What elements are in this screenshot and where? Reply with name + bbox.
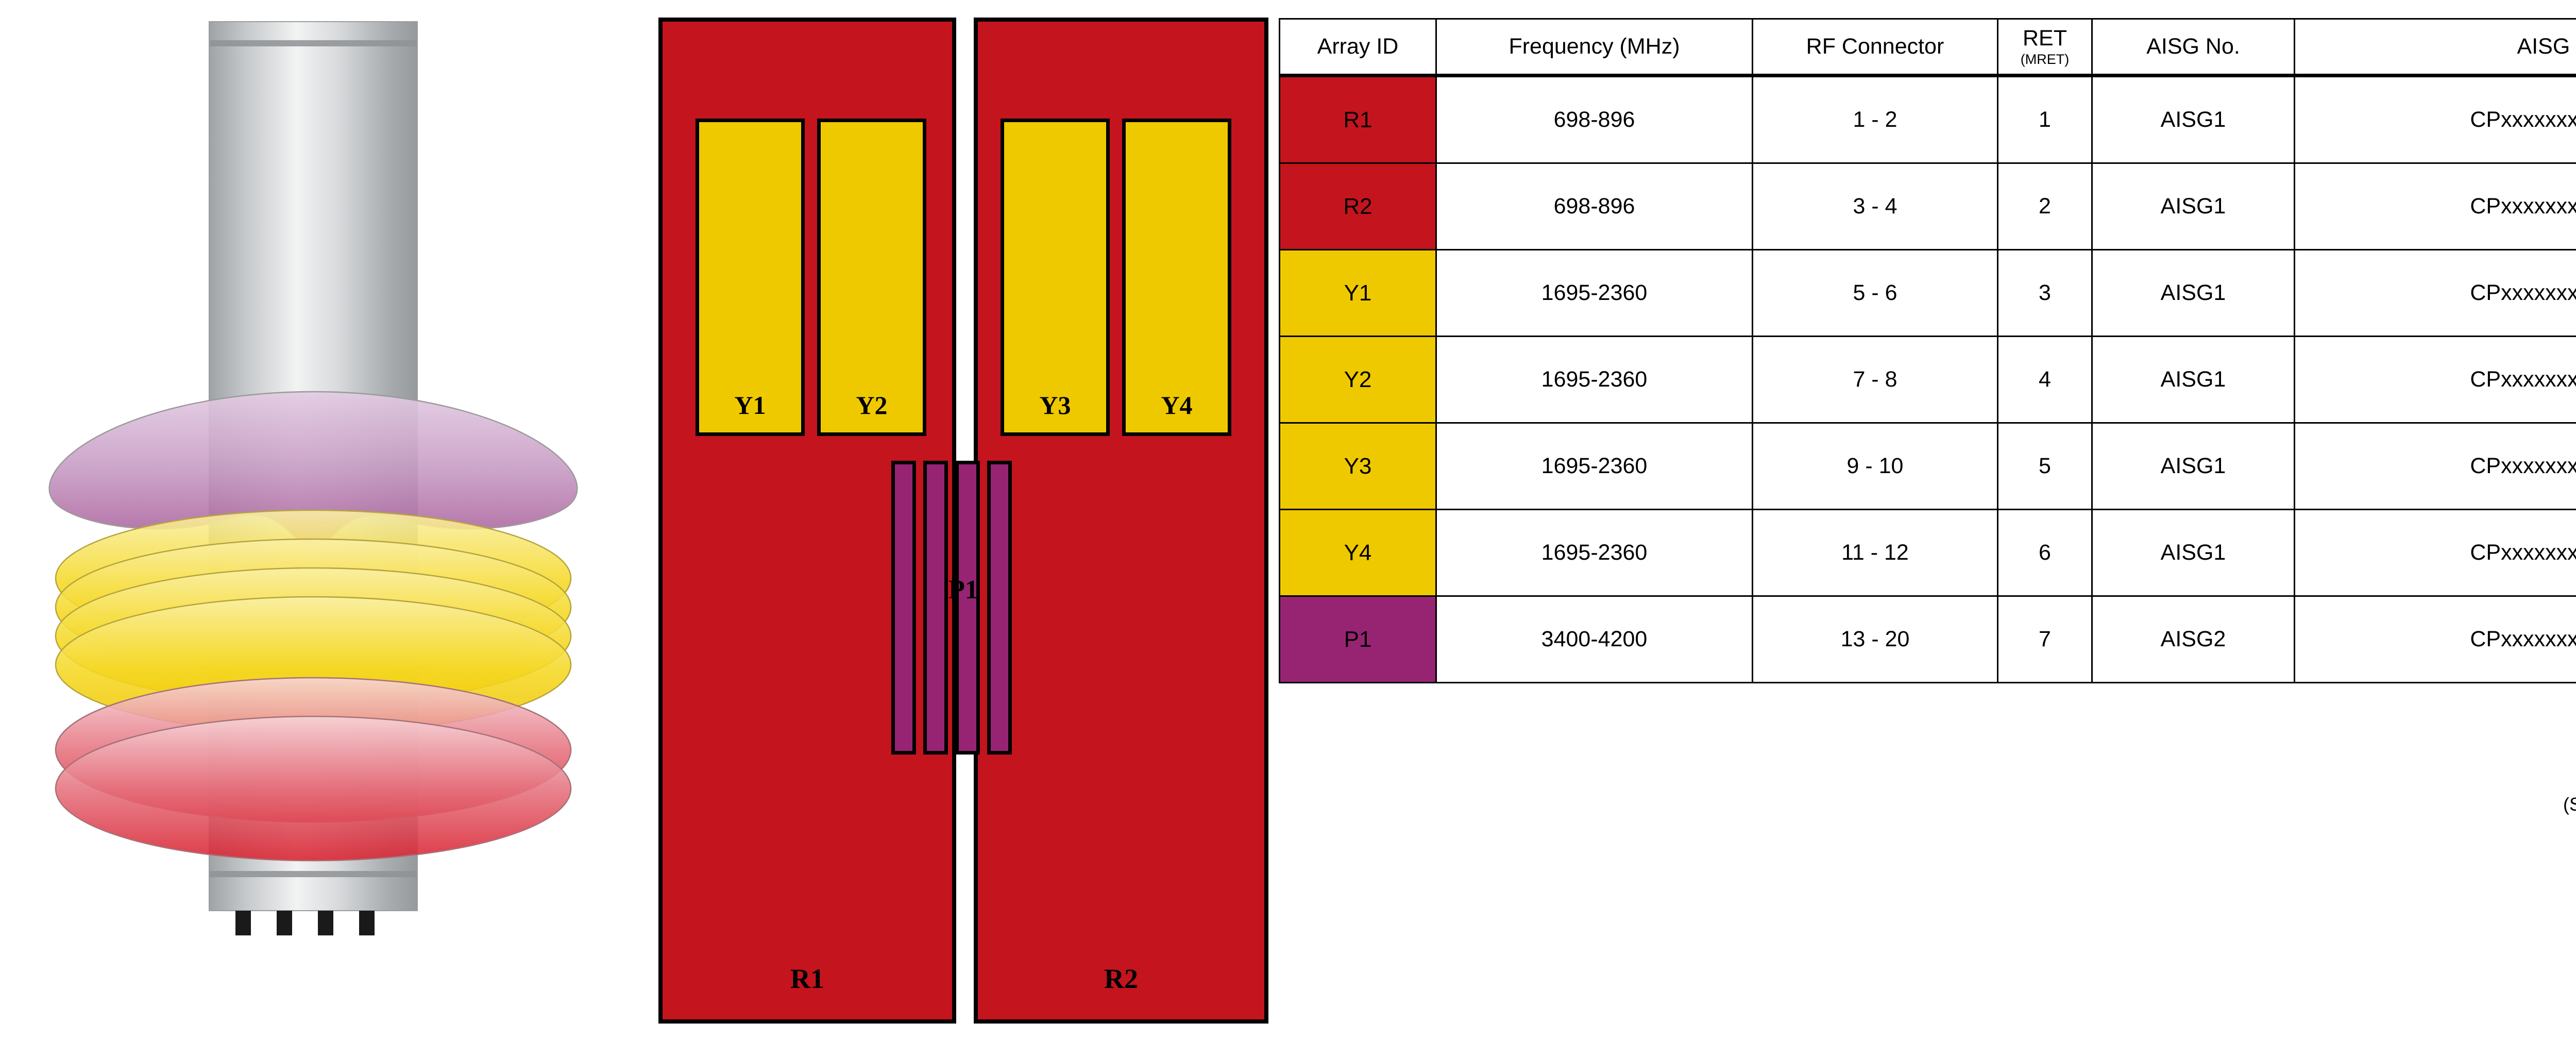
array-box-label-p1: P1 <box>891 577 1036 604</box>
array-table: Array ID Frequency (MHz) RF Connector RE… <box>1279 18 2576 683</box>
cell-aisg-no: AISG1 <box>2092 76 2295 163</box>
status-badge-p1: P1 <box>1280 596 1436 683</box>
table-row[interactable]: Y21695-23607 - 84AISG1CPxxxxxxxxxxxxxxMM… <box>1280 337 2576 423</box>
cell-aisg-ret-uid: CPxxxxxxxxxxxxxxMM.3 <box>2295 250 2576 337</box>
array-box-label-y3: Y3 <box>1039 392 1071 432</box>
cell-rf-connector: 9 - 10 <box>1753 423 1998 510</box>
array-box-y2[interactable]: Y2 <box>817 119 926 436</box>
cell-frequency: 698-896 <box>1436 76 1753 163</box>
cell-frequency: 1695-2360 <box>1436 337 1753 423</box>
array-panel-label-r2: R2 <box>978 965 1264 993</box>
column-header-ret: RET (MRET) <box>1998 19 2092 76</box>
purple-strip-4 <box>987 461 1012 755</box>
status-badge-y1: Y1 <box>1280 250 1436 337</box>
array-table-header: Array ID Frequency (MHz) RF Connector RE… <box>1280 19 2576 76</box>
table-row[interactable]: P13400-420013 - 207AISG2CPxxxxxxxxxxxxxx… <box>1280 596 2576 683</box>
cell-rf-connector: 13 - 20 <box>1753 596 1998 683</box>
array-panel-label-r1: R1 <box>663 965 952 993</box>
cell-rf-connector: 3 - 4 <box>1753 163 1998 250</box>
table-footnote: (Sizes of colored boxes are not true dep… <box>2563 794 2576 815</box>
array-box-y3[interactable]: Y3 <box>1001 119 1110 436</box>
array-box-label-y4: Y4 <box>1161 392 1192 432</box>
cell-frequency: 1695-2360 <box>1436 423 1753 510</box>
cell-aisg-no: AISG1 <box>2092 250 2295 337</box>
cell-frequency: 698-896 <box>1436 163 1753 250</box>
cell-aisg-ret-uid: CPxxxxxxxxxxxxxxMM.1 <box>2295 596 2576 683</box>
cell-ret: 1 <box>1998 76 2092 163</box>
status-badge-y4: Y4 <box>1280 510 1436 596</box>
array-box-label-y2: Y2 <box>856 392 887 432</box>
cell-ret: 7 <box>1998 596 2092 683</box>
cell-aisg-no: AISG1 <box>2092 510 2295 596</box>
antenna-illustration <box>0 0 644 1039</box>
cell-aisg-no: AISG2 <box>2092 596 2295 683</box>
array-box-y1[interactable]: Y1 <box>696 119 805 436</box>
cell-aisg-ret-uid: CPxxxxxxxxxxxxxxMM.5 <box>2295 423 2576 510</box>
cell-aisg-no: AISG1 <box>2092 163 2295 250</box>
cell-frequency: 3400-4200 <box>1436 596 1753 683</box>
table-row[interactable]: R2698-8963 - 42AISG1CPxxxxxxxxxxxxxxMM.2 <box>1280 163 2576 250</box>
purple-strip-1 <box>891 461 916 755</box>
cell-ret: 3 <box>1998 250 2092 337</box>
array-box-label-y1: Y1 <box>734 392 766 432</box>
array-table-body: R1698-8961 - 21AISG1CPxxxxxxxxxxxxxxMM.1… <box>1280 76 2576 683</box>
cell-ret: 6 <box>1998 510 2092 596</box>
connector-pins <box>235 911 375 935</box>
column-header-ret-sub: (MRET) <box>2021 52 2069 66</box>
cell-aisg-ret-uid: CPxxxxxxxxxxxxxxMM.1 <box>2295 76 2576 163</box>
cell-frequency: 1695-2360 <box>1436 250 1753 337</box>
status-badge-r2: R2 <box>1280 163 1436 250</box>
cell-aisg-no: AISG1 <box>2092 423 2295 510</box>
cell-ret: 2 <box>1998 163 2092 250</box>
cell-aisg-ret-uid: CPxxxxxxxxxxxxxxMM.4 <box>2295 337 2576 423</box>
purple-strip-2 <box>923 461 948 755</box>
cell-rf-connector: 5 - 6 <box>1753 250 1998 337</box>
cell-aisg-no: AISG1 <box>2092 337 2295 423</box>
cell-rf-connector: 11 - 12 <box>1753 510 1998 596</box>
array-table-container: Array ID Frequency (MHz) RF Connector RE… <box>1279 18 2576 683</box>
column-header-aisg-no: AISG No. <box>2092 19 2295 76</box>
column-header-aisg-ret-uid: AISG RET UID <box>2295 19 2576 76</box>
column-header-frequency: Frequency (MHz) <box>1436 19 1753 76</box>
array-box-y4[interactable]: Y4 <box>1122 119 1231 436</box>
table-header-row: Array ID Frequency (MHz) RF Connector RE… <box>1280 19 2576 76</box>
cell-ret: 5 <box>1998 423 2092 510</box>
purple-strip-3 <box>955 461 980 755</box>
table-row[interactable]: Y41695-236011 - 126AISG1CPxxxxxxxxxxxxxx… <box>1280 510 2576 596</box>
cell-rf-connector: 1 - 2 <box>1753 76 1998 163</box>
r-beam-lobes <box>56 678 571 861</box>
column-header-rf-connector: RF Connector <box>1753 19 1998 76</box>
table-row[interactable]: R1698-8961 - 21AISG1CPxxxxxxxxxxxxxxMM.1 <box>1280 76 2576 163</box>
column-header-ret-main: RET <box>2023 27 2067 50</box>
cell-aisg-ret-uid: CPxxxxxxxxxxxxxxMM.6 <box>2295 510 2576 596</box>
column-header-array-id: Array ID <box>1280 19 1436 76</box>
status-badge-y3: Y3 <box>1280 423 1436 510</box>
status-badge-r1: R1 <box>1280 76 1436 163</box>
table-row[interactable]: Y31695-23609 - 105AISG1CPxxxxxxxxxxxxxxM… <box>1280 423 2576 510</box>
cell-frequency: 1695-2360 <box>1436 510 1753 596</box>
cell-aisg-ret-uid: CPxxxxxxxxxxxxxxMM.2 <box>2295 163 2576 250</box>
table-row[interactable]: Y11695-23605 - 63AISG1CPxxxxxxxxxxxxxxMM… <box>1280 250 2576 337</box>
array-layout-panel: R1 R2 Y1 Y2 Y3 Y4 P1 <box>658 18 1268 1024</box>
cell-ret: 4 <box>1998 337 2092 423</box>
cell-rf-connector: 7 - 8 <box>1753 337 1998 423</box>
status-badge-y2: Y2 <box>1280 337 1436 423</box>
array-box-p1-group[interactable]: P1 <box>891 461 1036 755</box>
